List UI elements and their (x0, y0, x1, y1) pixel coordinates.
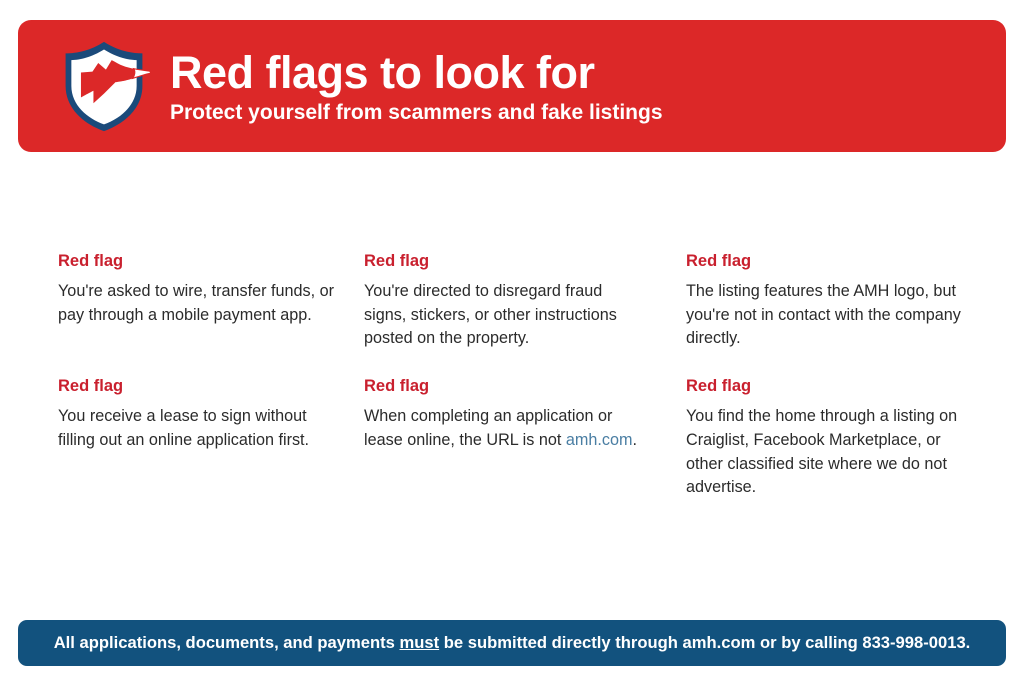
red-flag-heading: Red flag (58, 252, 336, 272)
footer-banner: All applications, documents, and payment… (18, 620, 1006, 666)
footer-text-lead: All applications, documents, and payment… (54, 633, 400, 652)
red-flag-card: Red flag You're directed to disregard fr… (364, 252, 642, 351)
footer-emphasis-must: must (399, 633, 439, 652)
red-flag-card: Red flag You find the home through a lis… (686, 377, 964, 500)
red-flag-body-text: You're directed to disregard fraud signs… (364, 282, 617, 348)
red-flag-body-text: You're asked to wire, transfer funds, or… (58, 282, 334, 324)
red-flag-card: Red flag You receive a lease to sign wit… (58, 377, 336, 500)
red-flag-card: Red flag You're asked to wire, transfer … (58, 252, 336, 351)
red-flag-body-text: The listing features the AMH logo, but y… (686, 282, 961, 348)
red-flag-card: Red flag The listing features the AMH lo… (686, 252, 964, 351)
red-flag-body: You're asked to wire, transfer funds, or… (58, 280, 336, 328)
red-flag-heading: Red flag (364, 377, 642, 397)
footer-notice: All applications, documents, and payment… (54, 634, 971, 652)
red-flag-heading: Red flag (686, 377, 964, 397)
red-flag-grid: Red flag You're asked to wire, transfer … (58, 252, 988, 500)
red-flag-body-text: You find the home through a listing on C… (686, 407, 957, 496)
red-flag-body: You receive a lease to sign without fill… (58, 405, 336, 453)
red-flag-body: You find the home through a listing on C… (686, 405, 964, 500)
page-subtitle: Protect yourself from scammers and fake … (170, 101, 663, 124)
amh-com-link[interactable]: amh.com (566, 431, 633, 449)
red-flag-body-text-tail: . (632, 431, 637, 449)
red-flag-card: Red flag When completing an application … (364, 377, 642, 500)
red-flag-body: You're directed to disregard fraud signs… (364, 280, 642, 351)
header-banner: Red flags to look for Protect yourself f… (18, 20, 1006, 152)
header-text-block: Red flags to look for Protect yourself f… (170, 50, 663, 125)
red-flag-body: The listing features the AMH logo, but y… (686, 280, 964, 351)
page-title: Red flags to look for (170, 50, 663, 96)
amh-shield-eagle-logo (56, 38, 152, 134)
red-flag-body-text: You receive a lease to sign without fill… (58, 407, 309, 449)
red-flag-heading: Red flag (364, 252, 642, 272)
red-flag-heading: Red flag (686, 252, 964, 272)
red-flag-body: When completing an application or lease … (364, 405, 642, 453)
red-flag-heading: Red flag (58, 377, 336, 397)
footer-text-tail: be submitted directly through amh.com or… (439, 633, 970, 652)
